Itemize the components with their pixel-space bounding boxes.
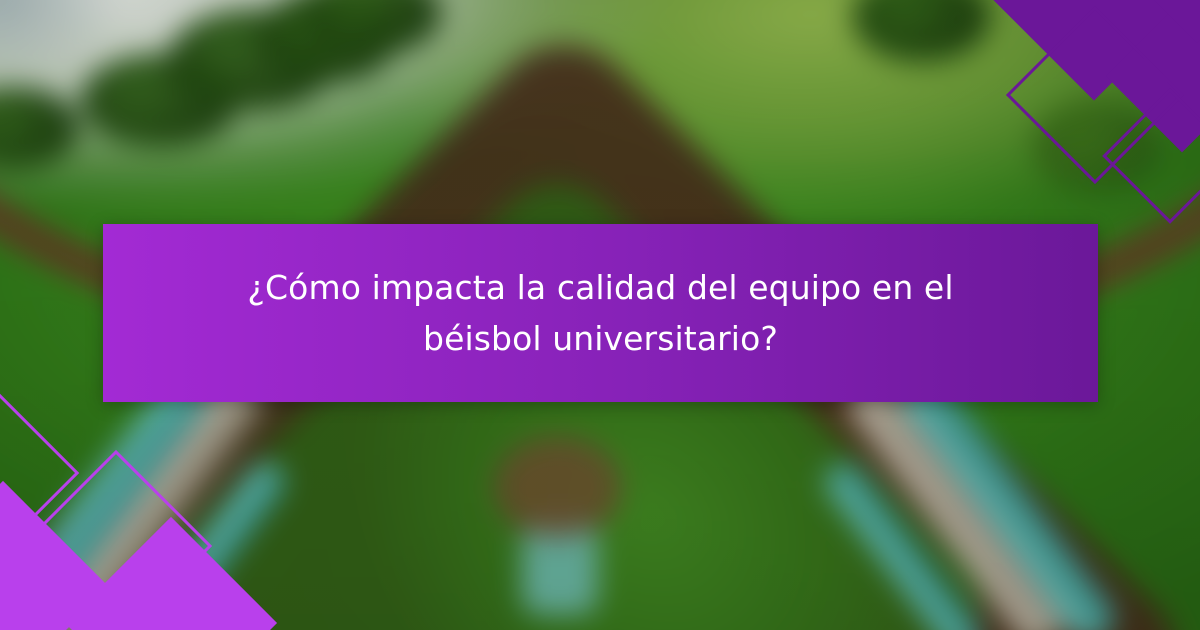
headline-title: ¿Cómo impacta la calidad del equipo en e…: [167, 262, 1035, 364]
social-card-canvas: ¿Cómo impacta la calidad del equipo en e…: [0, 0, 1200, 630]
headline-banner: ¿Cómo impacta la calidad del equipo en e…: [103, 224, 1098, 402]
